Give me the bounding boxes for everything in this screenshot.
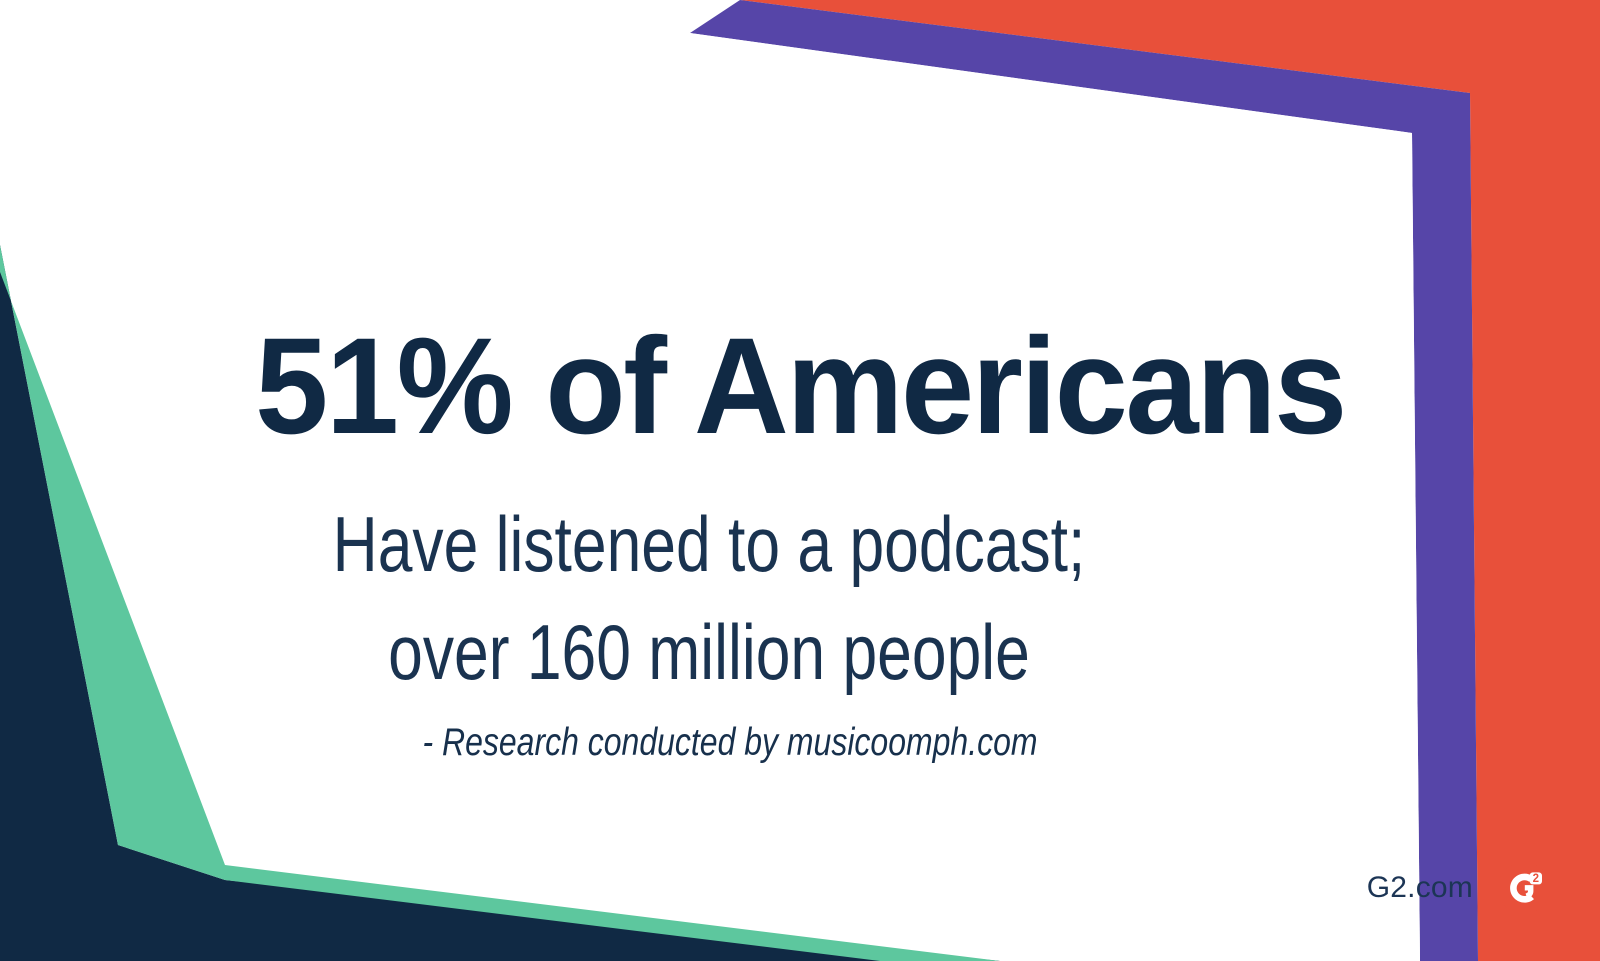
subtitle-line-1: Have listened to a podcast; [142,505,1276,583]
subtitle-line-2: over 160 million people [142,613,1276,691]
brand-footer: G2.com 2 [1367,862,1550,914]
page-title: 51% of Americans [32,318,1568,455]
infographic-canvas: 51% of Americans Have listened to a podc… [0,0,1600,961]
brand-label: G2.com [1367,873,1473,903]
g2-logo-icon[interactable]: 2 [1498,862,1550,914]
source-attribution: - Research conducted by musicoomph.com [131,723,1328,762]
svg-text:2: 2 [1533,873,1539,885]
content-layer: 51% of Americans Have listened to a podc… [0,0,1600,961]
